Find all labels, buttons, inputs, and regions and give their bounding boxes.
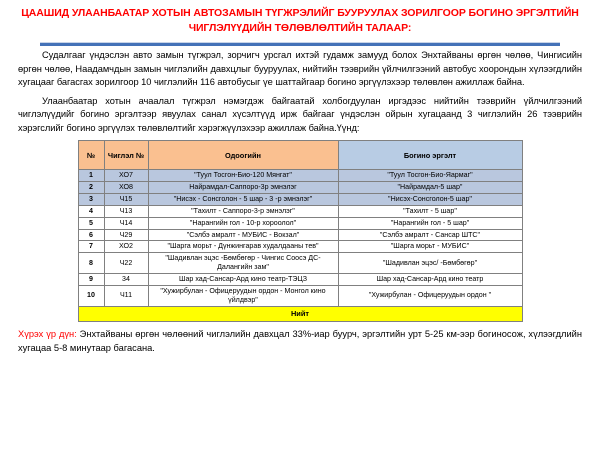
cell-short-route: "Нисэх-Сонсголон-5 шар" bbox=[338, 193, 522, 205]
cell-number: 8 bbox=[78, 253, 104, 274]
cell-number: 4 bbox=[78, 205, 104, 217]
cell-number: 1 bbox=[78, 170, 104, 182]
cell-current-route: "Шарга морьт - Дүнжингарав худалдааны те… bbox=[148, 241, 338, 253]
column-header-number: № bbox=[78, 141, 104, 170]
cell-current-route: "Сэлбэ амралт - МУБИС - Вокзал" bbox=[148, 229, 338, 241]
cell-number: 10 bbox=[78, 285, 104, 306]
table-row: 7 ХО2 "Шарга морьт - Дүнжингарав худалда… bbox=[78, 241, 522, 253]
table-row: 10 Ч11 "Хужирбулан - Офицеруудын ордон -… bbox=[78, 285, 522, 306]
table-row: 8 Ч22 "Шадивлан эцэс -Бөмбөгөр - Чингис … bbox=[78, 253, 522, 274]
cell-number: 2 bbox=[78, 182, 104, 194]
paragraph-1: Судалгааг үндэслэн авто замын түгжрэл, з… bbox=[18, 49, 582, 89]
cell-route-number: ХО8 bbox=[104, 182, 148, 194]
cell-number: 6 bbox=[78, 229, 104, 241]
cell-number: 5 bbox=[78, 217, 104, 229]
table-row: 3 Ч15 "Нисэх - Сонсголон - 5 шар - 3 -р … bbox=[78, 193, 522, 205]
table-row: 1 ХО7 "Туул Тосгон-Био-120 Мянгат" "Туул… bbox=[78, 170, 522, 182]
cell-route-number: ХО7 bbox=[104, 170, 148, 182]
table-row: 9 34 Шар хад-Сансар-Ард кино театр-ТЭЦЗ … bbox=[78, 273, 522, 285]
cell-short-route: "Туул Тосгон-Био-Яармаг" bbox=[338, 170, 522, 182]
table-row: 2 ХО8 Найрамдал-Саппоро-3р эмнэлэг "Найр… bbox=[78, 182, 522, 194]
cell-route-number: ХО2 bbox=[104, 241, 148, 253]
table-header-row: № Чиглэл № Одоогийн Богино эргэлт bbox=[78, 141, 522, 170]
cell-route-number: Ч13 bbox=[104, 205, 148, 217]
table-header: № Чиглэл № Одоогийн Богино эргэлт bbox=[78, 141, 522, 170]
total-label: Нийт bbox=[78, 306, 522, 321]
table-total-row: Нийт bbox=[78, 306, 522, 321]
paragraph-2: Улаанбаатар хотын ачаалал түгжрэл нэмэгд… bbox=[18, 95, 582, 135]
routes-table: № Чиглэл № Одоогийн Богино эргэлт 1 ХО7 … bbox=[78, 140, 523, 321]
cell-short-route: "Шадивлан эцэс/ -Бөмбөгөр" bbox=[338, 253, 522, 274]
summary-block: Хүрэх үр дүн: Энхтайваны өргөн чөлөөний … bbox=[0, 322, 600, 356]
cell-current-route: "Нисэх - Сонсголон - 5 шар - 3 -р эмнэлэ… bbox=[148, 193, 338, 205]
cell-short-route: Шар хад-Сансар-Ард кино театр bbox=[338, 273, 522, 285]
cell-short-route: "Сэлбэ амралт - Сансар ШТС" bbox=[338, 229, 522, 241]
slide-title: ЦААШИД УЛААНБААТАР ХОТЫН АВТОЗАМЫН ТҮГЖР… bbox=[0, 0, 600, 36]
cell-route-number: Ч22 bbox=[104, 253, 148, 274]
cell-short-route: "Тахилт - 5 шар" bbox=[338, 205, 522, 217]
cell-current-route: "Шадивлан эцэс -Бөмбөгөр - Чингис Соосэ … bbox=[148, 253, 338, 274]
column-header-current: Одоогийн bbox=[148, 141, 338, 170]
cell-short-route: "Нарангийн гол - 5 шар" bbox=[338, 217, 522, 229]
table-body: 1 ХО7 "Туул Тосгон-Био-120 Мянгат" "Туул… bbox=[78, 170, 522, 321]
cell-current-route: "Тахилт - Саппоро-3-р эмнэлэг" bbox=[148, 205, 338, 217]
slide-canvas: ЦААШИД УЛААНБААТАР ХОТЫН АВТОЗАМЫН ТҮГЖР… bbox=[0, 0, 600, 458]
body-text-block: Судалгааг үндэслэн авто замын түгжрэл, з… bbox=[0, 46, 600, 135]
table-row: 6 Ч29 "Сэлбэ амралт - МУБИС - Вокзал" "С… bbox=[78, 229, 522, 241]
summary-label: Хүрэх үр дүн: bbox=[18, 329, 77, 339]
cell-route-number: 34 bbox=[104, 273, 148, 285]
summary-text: Энхтайваны өргөн чөлөөний чиглэлийн давх… bbox=[18, 329, 582, 353]
cell-current-route: "Хужирбулан - Офицеруудын ордон - Монгол… bbox=[148, 285, 338, 306]
column-header-short-turn: Богино эргэлт bbox=[338, 141, 522, 170]
cell-number: 9 bbox=[78, 273, 104, 285]
cell-route-number: Ч14 bbox=[104, 217, 148, 229]
table-row: 4 Ч13 "Тахилт - Саппоро-3-р эмнэлэг" "Та… bbox=[78, 205, 522, 217]
table-row: 5 Ч14 "Нарангийн гол - 10-р хороолол" "Н… bbox=[78, 217, 522, 229]
cell-number: 7 bbox=[78, 241, 104, 253]
cell-short-route: "Найрамдал-5 шар" bbox=[338, 182, 522, 194]
cell-route-number: Ч29 bbox=[104, 229, 148, 241]
cell-short-route: "Хужирбулан - Офицеруудын ордон " bbox=[338, 285, 522, 306]
cell-current-route: Найрамдал-Саппоро-3р эмнэлэг bbox=[148, 182, 338, 194]
cell-number: 3 bbox=[78, 193, 104, 205]
column-header-route-number: Чиглэл № bbox=[104, 141, 148, 170]
cell-current-route: "Туул Тосгон-Био-120 Мянгат" bbox=[148, 170, 338, 182]
cell-route-number: Ч11 bbox=[104, 285, 148, 306]
cell-short-route: "Шарга морьт - МУБИС" bbox=[338, 241, 522, 253]
cell-current-route: "Нарангийн гол - 10-р хороолол" bbox=[148, 217, 338, 229]
cell-current-route: Шар хад-Сансар-Ард кино театр-ТЭЦЗ bbox=[148, 273, 338, 285]
cell-route-number: Ч15 bbox=[104, 193, 148, 205]
